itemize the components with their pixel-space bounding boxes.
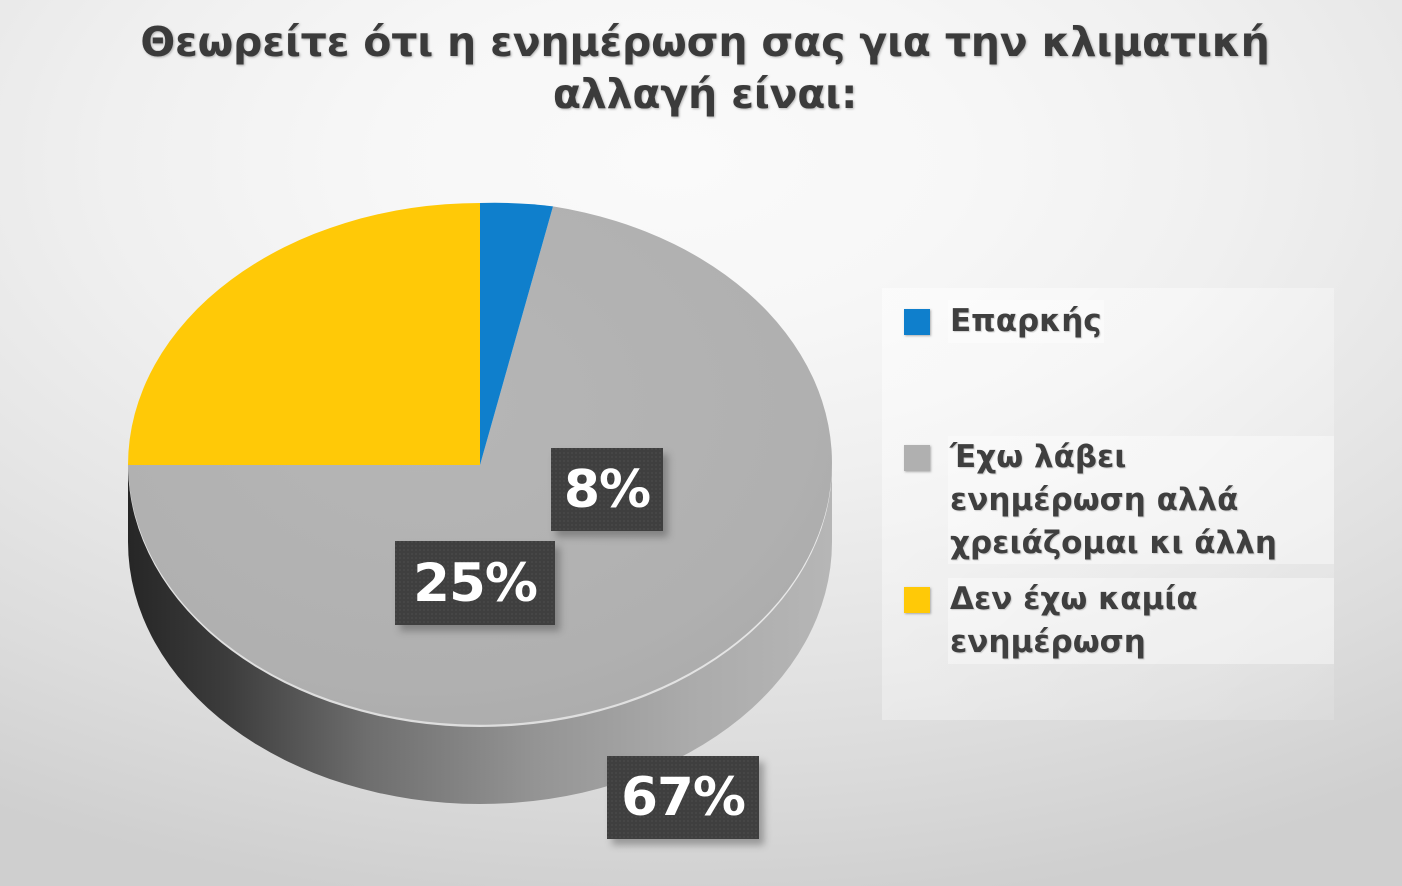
legend-swatch-gray-icon xyxy=(904,445,930,471)
legend-item-den-exo-kamia[interactable]: Δεν έχω καμία ενημέρωση xyxy=(904,578,1334,664)
page-title: Θεωρείτε ότι η ενημέρωση σας για την κλι… xyxy=(120,16,1290,121)
pie-slice-yellow[interactable] xyxy=(128,203,480,465)
legend-swatch-blue-icon xyxy=(904,309,930,335)
data-label-yellow: 25% xyxy=(395,541,555,625)
pie-chart: 8% 25% 67% xyxy=(110,205,850,850)
slide-canvas: Θεωρείτε ότι η ενημέρωση σας για την κλι… xyxy=(0,0,1402,886)
data-label-gray: 67% xyxy=(607,756,759,839)
pie-chart-svg xyxy=(110,205,850,850)
legend-item-label: Έχω λάβει ενημέρωση αλλά χρειάζομαι κι ά… xyxy=(948,436,1334,564)
pie-slices xyxy=(128,203,832,725)
legend-swatch-yellow-icon xyxy=(904,587,930,613)
chart-legend: Επαρκής Έχω λάβει ενημέρωση αλλά χρειάζο… xyxy=(882,288,1334,720)
data-label-blue: 8% xyxy=(551,448,663,531)
legend-item-label: Επαρκής xyxy=(948,300,1104,343)
legend-item-eparkis[interactable]: Επαρκής xyxy=(904,300,1104,343)
legend-item-exo-lavei[interactable]: Έχω λάβει ενημέρωση αλλά χρειάζομαι κι ά… xyxy=(904,436,1334,564)
legend-item-label: Δεν έχω καμία ενημέρωση xyxy=(948,578,1334,664)
